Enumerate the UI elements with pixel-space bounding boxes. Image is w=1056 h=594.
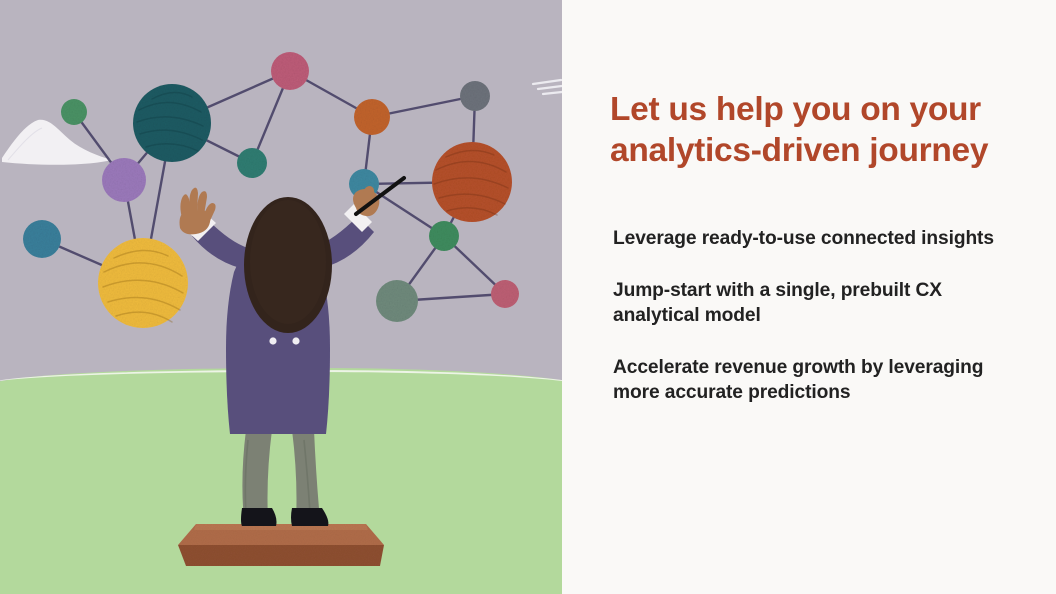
boot-left	[241, 508, 277, 526]
node-green-center	[237, 148, 267, 178]
button-left	[269, 337, 276, 344]
node-grey-topright	[460, 81, 490, 111]
leg-right	[292, 430, 320, 520]
bullet-list: Leverage ready-to-use connected insights…	[613, 207, 1023, 406]
pedestal	[178, 524, 384, 566]
figure-person	[180, 178, 405, 526]
node-green-small-left	[61, 99, 87, 125]
button-right	[292, 337, 299, 344]
hair-highlight	[250, 200, 326, 324]
leg-left	[242, 430, 272, 520]
title-line-2: analytics-driven journey	[610, 132, 988, 169]
slide-root: Let us help you on your analytics-driven…	[0, 0, 1056, 594]
page-title: Let us help you on your analytics-driven…	[610, 90, 1044, 172]
illustration-panel	[0, 0, 562, 594]
node-orange-large	[432, 142, 512, 222]
network-illustration	[0, 0, 562, 594]
node-teal-large	[133, 84, 211, 162]
title-line-1: Let us help you on your	[610, 91, 981, 128]
node-purple-medium	[102, 158, 146, 202]
node-greygreen-bottom	[376, 280, 418, 322]
boot-right	[291, 508, 328, 526]
node-blue-left	[23, 220, 61, 258]
node-yellow-large	[98, 238, 188, 328]
bullet-item-1: Leverage ready-to-use connected insights	[613, 226, 1023, 252]
node-orange-small	[354, 99, 390, 135]
node-green-right	[429, 221, 459, 251]
cloud-right	[533, 80, 562, 94]
node-rose-bottomright	[491, 280, 519, 308]
bullet-item-3: Accelerate revenue growth by leveraging …	[613, 355, 1023, 406]
bullet-item-2: Jump-start with a single, prebuilt CX an…	[613, 278, 1023, 329]
text-panel: Let us help you on your analytics-driven…	[562, 0, 1056, 594]
node-pink-top	[271, 52, 309, 90]
